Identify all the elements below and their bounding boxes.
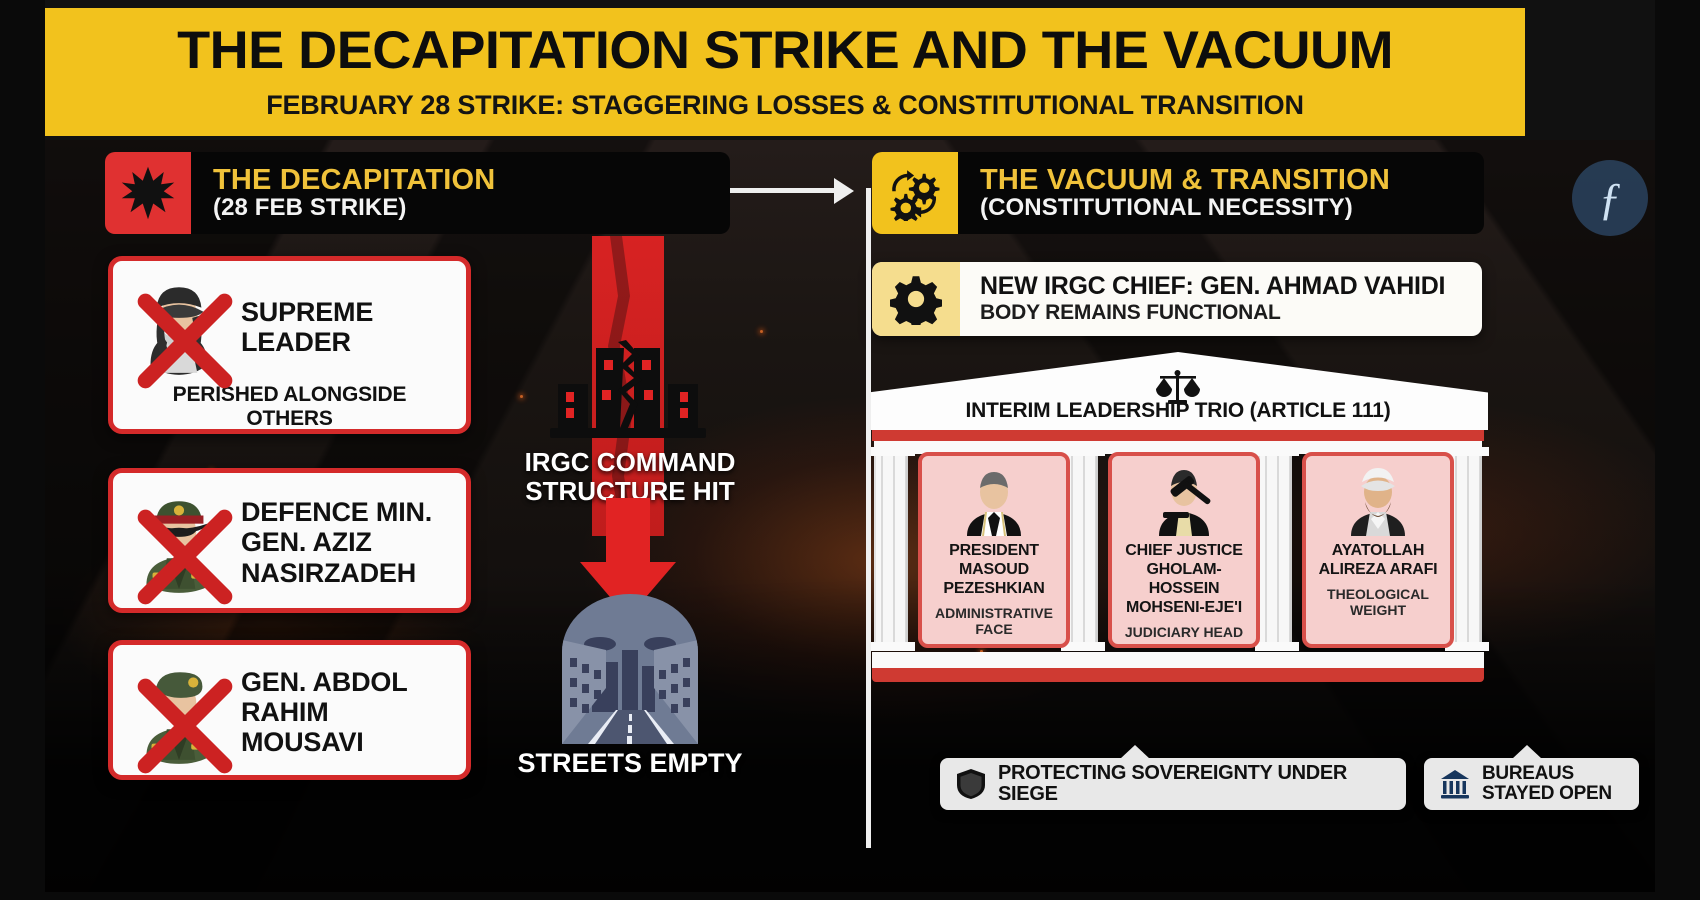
leader-card[interactable]: AYATOLLAH ALIREZA ARAFI THEOLOGICAL WEIG…	[1302, 452, 1454, 648]
section-title-right: THE VACUUM & TRANSITION	[980, 165, 1484, 195]
chief-subtitle: BODY REMAINS FUNCTIONAL	[980, 301, 1445, 325]
badge-label: BUREAUS STAYED OPEN	[1482, 764, 1623, 804]
section-header-vacuum[interactable]: THE VACUUM & TRANSITION (CONSTITUTIONAL …	[872, 152, 1484, 234]
new-irgc-chief-card[interactable]: NEW IRGC CHIEF: GEN. AHMAD VAHIDI BODY R…	[872, 262, 1482, 336]
cracked-buildings-icon	[540, 330, 716, 440]
badge-label: PROTECTING SOVEREIGNTY UNDER SIEGE	[998, 763, 1390, 805]
leader-role: ADMINISTRATIVE FACE	[922, 605, 1066, 637]
explosion-icon	[105, 152, 191, 234]
chief-card-text: NEW IRGC CHIEF: GEN. AHMAD VAHIDI BODY R…	[960, 262, 1445, 336]
victim-name: SUPREME LEADER	[241, 297, 452, 357]
red-x-icon	[133, 285, 237, 397]
leader-name: AYATOLLAH ALIREZA ARAFI	[1306, 542, 1450, 580]
divider-line	[866, 188, 871, 848]
officer-cap-avatar	[127, 487, 231, 599]
red-x-icon	[133, 501, 237, 613]
section-header-text: THE DECAPITATION (28 FEB STRIKE)	[191, 152, 730, 234]
victim-name: DEFENCE MIN. GEN. AZIZ NASIRZADEH	[241, 497, 452, 588]
frame-edge	[0, 0, 45, 900]
page-title: THE DECAPITATION STRIKE AND THE VACUUM	[177, 24, 1393, 77]
temple-column	[1258, 456, 1292, 642]
judge-gavel-avatar	[1147, 462, 1221, 538]
cleric-turban-avatar	[1341, 462, 1415, 538]
title-banner: THE DECAPITATION STRIKE AND THE VACUUM F…	[45, 8, 1525, 136]
leader-role: JUDICIARY HEAD	[1125, 624, 1243, 640]
chief-title: NEW IRGC CHIEF: GEN. AHMAD VAHIDI	[980, 273, 1445, 301]
leader-name: CHIEF JUSTICE GHOLAM-HOSSEIN MOHSENI-EJE…	[1112, 542, 1256, 618]
victim-card[interactable]: SUPREME LEADER PERISHED ALONGSIDE OTHERS	[108, 256, 471, 434]
status-badge[interactable]: PROTECTING SOVEREIGNTY UNDER SIEGE	[940, 758, 1406, 810]
frame-edge	[1655, 0, 1700, 900]
section-header-decapitation[interactable]: THE DECAPITATION (28 FEB STRIKE)	[105, 152, 730, 234]
leader-name: PRESIDENT MASOUD PEZESHKIAN	[922, 542, 1066, 599]
watermark-logo: ƒ	[1572, 160, 1648, 236]
frame-edge	[0, 892, 1700, 900]
leader-card[interactable]: CHIEF JUSTICE GHOLAM-HOSSEIN MOHSENI-EJE…	[1108, 452, 1260, 648]
temple-base	[872, 652, 1484, 668]
temple-base-stripe	[872, 668, 1484, 682]
gears-icon	[872, 152, 958, 234]
gear-icon	[872, 262, 960, 336]
badge-notch	[1512, 745, 1542, 759]
section-subtitle-right: (CONSTITUTIONAL NECESSITY)	[980, 195, 1484, 221]
empty-street-icon	[548, 592, 712, 744]
street-label: STREETS EMPTY	[470, 748, 790, 779]
connector-line	[730, 188, 838, 193]
leader-role: THEOLOGICAL WEIGHT	[1306, 586, 1450, 618]
scales-of-justice-icon	[1154, 369, 1202, 405]
shield-icon	[956, 768, 986, 800]
pediment-stripe	[872, 430, 1484, 441]
cleric-avatar	[127, 271, 231, 383]
section-subtitle-left: (28 FEB STRIKE)	[213, 195, 730, 221]
interim-leadership-temple: INTERIM LEADERSHIP TRIO (ARTICLE 111)	[868, 352, 1488, 722]
victim-card[interactable]: GEN. ABDOL RAHIM MOUSAVI	[108, 640, 471, 780]
red-x-icon	[133, 670, 237, 782]
victim-card[interactable]: DEFENCE MIN. GEN. AZIZ NASIRZADEH	[108, 468, 471, 613]
general-beret-avatar	[127, 656, 231, 768]
section-title-left: THE DECAPITATION	[213, 165, 730, 195]
watermark-glyph: ƒ	[1599, 172, 1622, 225]
section-header-text: THE VACUUM & TRANSITION (CONSTITUTIONAL …	[958, 152, 1484, 234]
bank-icon	[1440, 768, 1470, 800]
businessman-avatar	[957, 462, 1031, 538]
page-subtitle: FEBRUARY 28 STRIKE: STAGGERING LOSSES & …	[266, 90, 1304, 121]
victim-name: GEN. ABDOL RAHIM MOUSAVI	[241, 667, 452, 758]
temple-column	[874, 456, 908, 642]
status-badge[interactable]: BUREAUS STAYED OPEN	[1424, 758, 1639, 810]
connector-arrow-icon	[834, 178, 854, 204]
leader-card[interactable]: PRESIDENT MASOUD PEZESHKIAN ADMINISTRATI…	[918, 452, 1070, 648]
infographic-canvas: THE DECAPITATION STRIKE AND THE VACUUM F…	[0, 0, 1700, 900]
badge-notch	[1120, 745, 1150, 759]
